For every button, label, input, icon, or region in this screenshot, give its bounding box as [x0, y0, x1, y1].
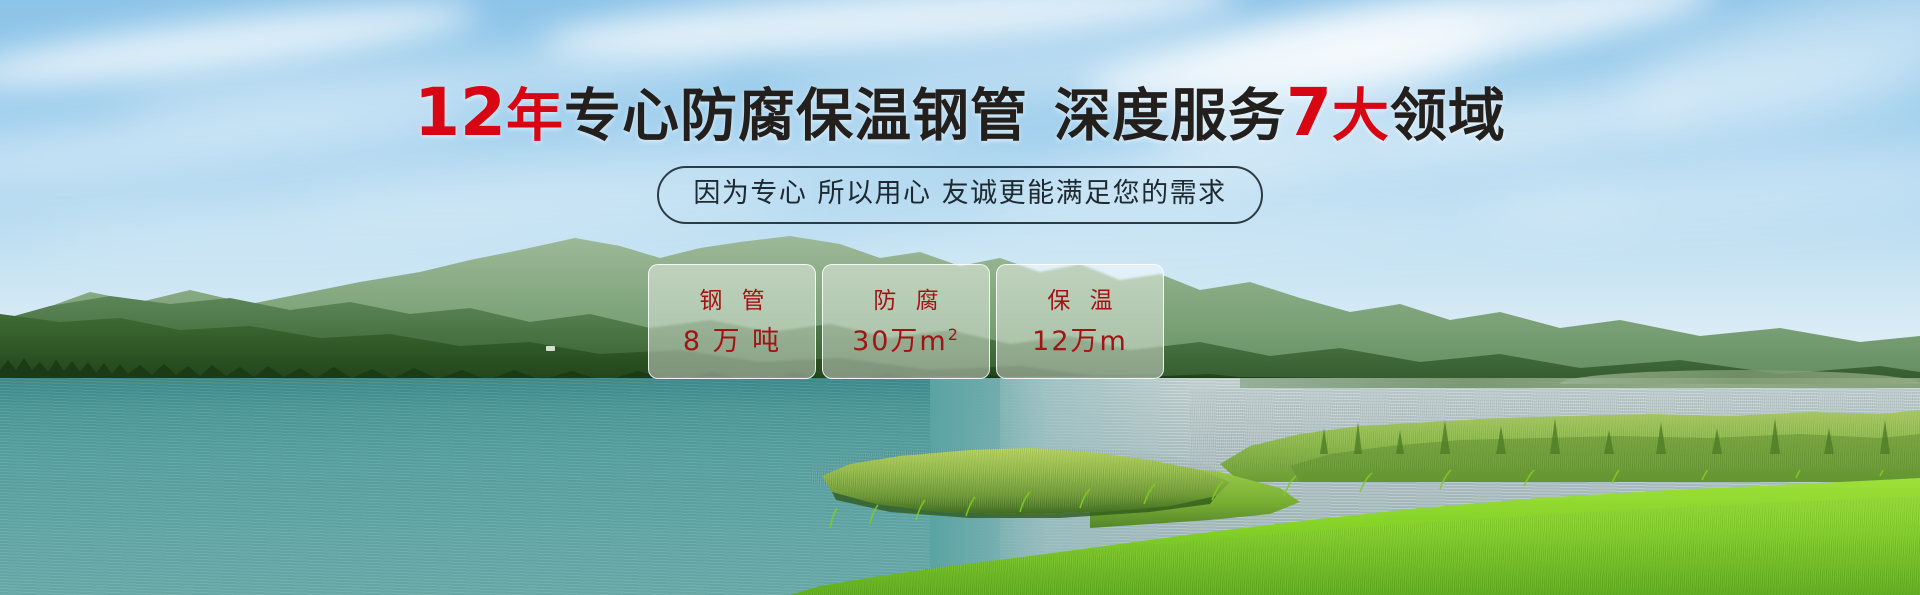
hero-banner: 12年专心防腐保温钢管深度服务7大领域 因为专心 所以用心 友诚更能满足您的需求… — [0, 0, 1920, 595]
stat-card-value: 8 万 吨 — [683, 326, 781, 358]
shore-cabin — [546, 346, 555, 351]
stat-card-title: 钢 管 — [693, 286, 770, 316]
stat-card-group: 钢 管 8 万 吨 防 腐 30万m2 保 温 12万m — [648, 264, 1164, 379]
headline-highlight-unit: 大 — [1332, 83, 1390, 149]
headline-segment-two: 深度服务 — [1054, 83, 1286, 149]
headline-years-unit: 年 — [506, 83, 564, 149]
reed-tufts — [1300, 412, 1920, 454]
subtitle-wrapper: 因为专心 所以用心 友诚更能满足您的需求 — [0, 166, 1920, 224]
grass-blade-fringe — [800, 470, 1920, 530]
stat-card-steel-pipe[interactable]: 钢 管 8 万 吨 — [648, 264, 816, 379]
stat-card-title: 防 腐 — [867, 286, 944, 316]
stat-card-unit-exponent: 2 — [948, 325, 960, 344]
subtitle-pill: 因为专心 所以用心 友诚更能满足您的需求 — [657, 166, 1262, 224]
stat-card-value: 30万m2 — [852, 326, 960, 358]
stat-card-insulation[interactable]: 保 温 12万m — [996, 264, 1164, 379]
banner-headline: 12年专心防腐保温钢管深度服务7大领域 — [0, 82, 1920, 147]
stat-card-value: 12万m — [1032, 326, 1128, 358]
stat-card-title: 保 温 — [1041, 286, 1118, 316]
headline-segment-three: 领域 — [1390, 83, 1506, 149]
headline-years-number: 12 — [414, 74, 506, 151]
headline-highlight-number: 7 — [1286, 74, 1332, 151]
stat-card-anticorrosion[interactable]: 防 腐 30万m2 — [822, 264, 990, 379]
headline-segment-one: 专心防腐保温钢管 — [564, 83, 1028, 149]
